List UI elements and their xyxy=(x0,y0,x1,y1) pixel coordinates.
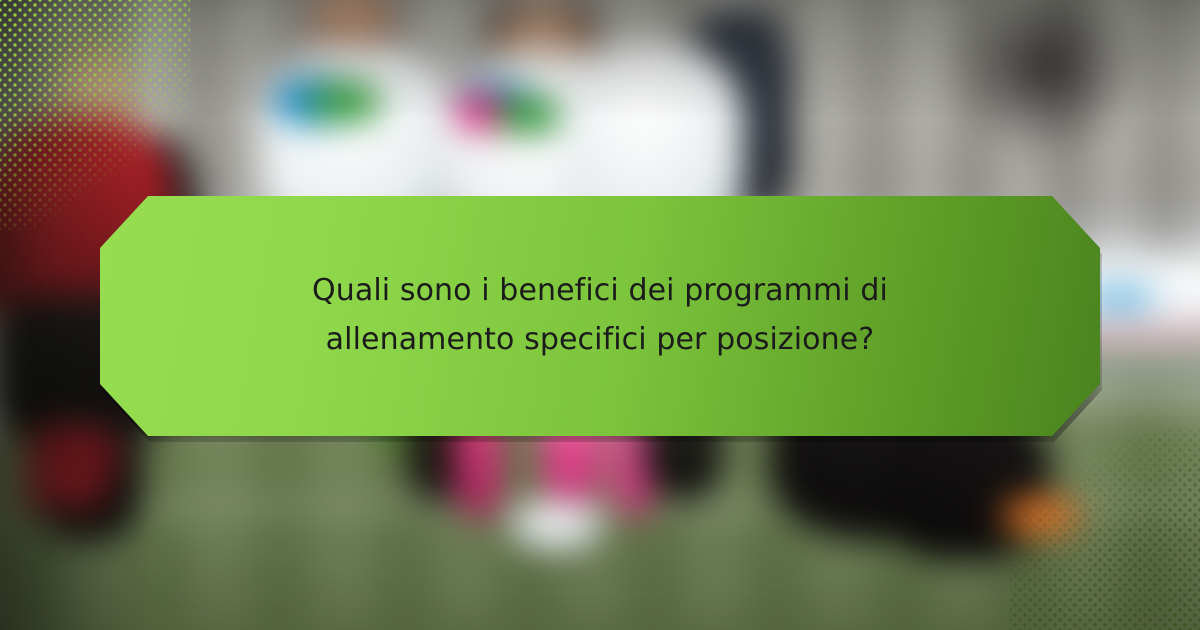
share-card: Quali sono i benefici dei programmi di a… xyxy=(0,0,1200,630)
question-text: Quali sono i benefici dei programmi di a… xyxy=(260,267,940,364)
question-banner: Quali sono i benefici dei programmi di a… xyxy=(100,196,1100,436)
